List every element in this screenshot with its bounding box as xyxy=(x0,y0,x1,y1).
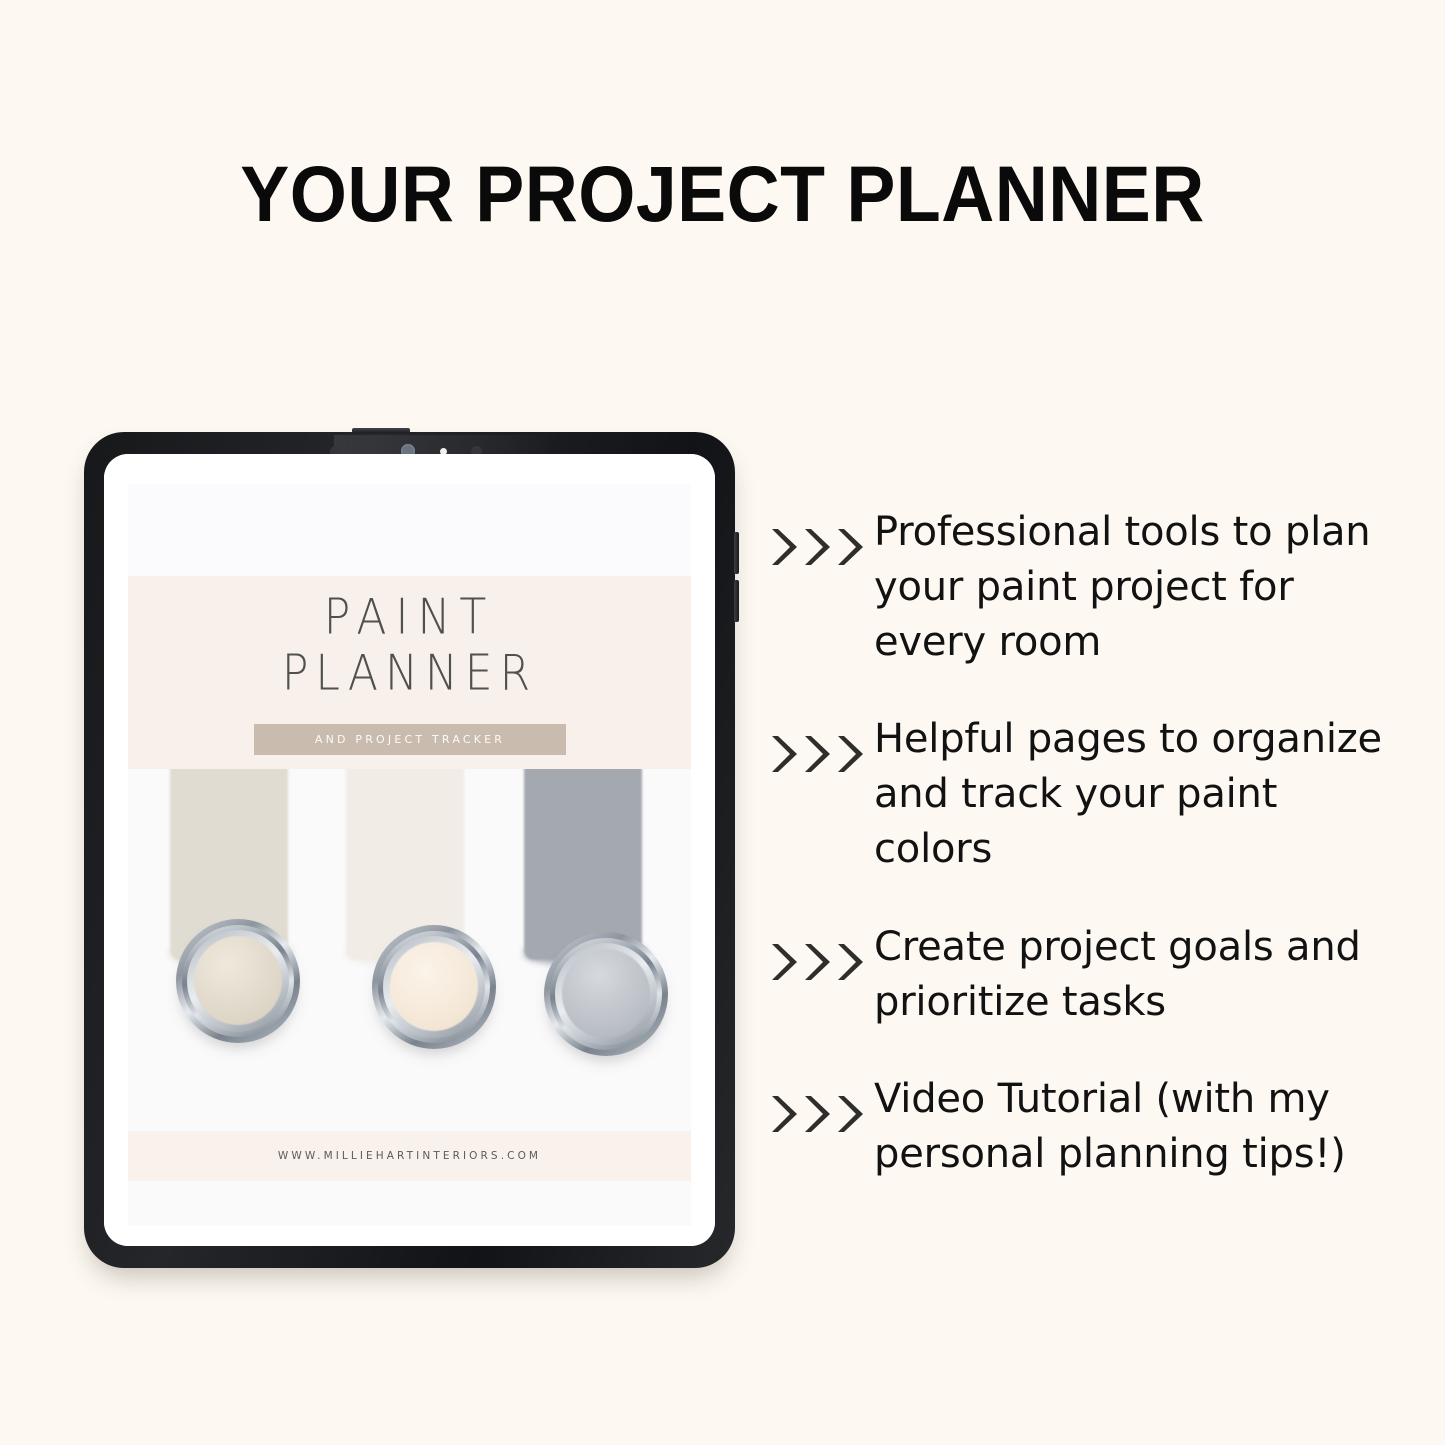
cover-inner-frame: PAINT PLANNER AND PROJECT TRACKER xyxy=(128,484,691,1226)
promo-graphic: YOUR PROJECT PLANNER PAINT PLANNER AND xyxy=(0,0,1445,1445)
cover-title-line-1: PAINT xyxy=(128,589,691,646)
gray-paint-can xyxy=(544,932,668,1056)
gray-swatch xyxy=(524,769,642,960)
cream-paint-can xyxy=(372,925,496,1049)
triple-chevron-right-icon xyxy=(770,920,874,982)
feature-text: Professional tools to plan your paint pr… xyxy=(874,505,1395,669)
beige-paint-can xyxy=(176,919,300,1043)
can-paint-surface xyxy=(390,942,478,1031)
list-item: Video Tutorial (with my personal plannin… xyxy=(770,1072,1395,1182)
triple-chevron-right-icon xyxy=(770,505,874,567)
triple-chevron-right-icon xyxy=(770,712,874,774)
feature-list: Professional tools to plan your paint pr… xyxy=(770,505,1395,1182)
feature-text: Create project goals and prioritize task… xyxy=(874,920,1395,1030)
page-title: YOUR PROJECT PLANNER xyxy=(51,148,1395,240)
cover-header-band: PAINT PLANNER AND PROJECT TRACKER xyxy=(128,576,691,769)
cover-subtitle-band: AND PROJECT TRACKER xyxy=(254,724,566,755)
feature-text: Video Tutorial (with my personal plannin… xyxy=(874,1072,1395,1182)
can-paint-surface xyxy=(194,936,282,1025)
can-paint-surface xyxy=(562,949,650,1038)
list-item: Professional tools to plan your paint pr… xyxy=(770,505,1395,669)
planner-cover-page: PAINT PLANNER AND PROJECT TRACKER xyxy=(104,454,715,1246)
tablet-screen: PAINT PLANNER AND PROJECT TRACKER xyxy=(104,454,715,1246)
cover-footer-band: WWW.MILLIEHARTINTERIORS.COM xyxy=(128,1131,691,1181)
list-item: Create project goals and prioritize task… xyxy=(770,920,1395,1030)
tablet-mockup: PAINT PLANNER AND PROJECT TRACKER xyxy=(84,432,735,1268)
feature-text: Helpful pages to organize and track your… xyxy=(874,712,1395,876)
list-item: Helpful pages to organize and track your… xyxy=(770,712,1395,876)
cover-title-line-2: PLANNER xyxy=(128,645,691,702)
triple-chevron-right-icon xyxy=(770,1072,874,1134)
cover-subtitle: AND PROJECT TRACKER xyxy=(254,724,566,755)
power-button[interactable] xyxy=(352,428,410,433)
volume-down-button[interactable] xyxy=(734,580,739,622)
volume-up-button[interactable] xyxy=(734,532,739,574)
website-url: WWW.MILLIEHARTINTERIORS.COM xyxy=(278,1150,541,1162)
